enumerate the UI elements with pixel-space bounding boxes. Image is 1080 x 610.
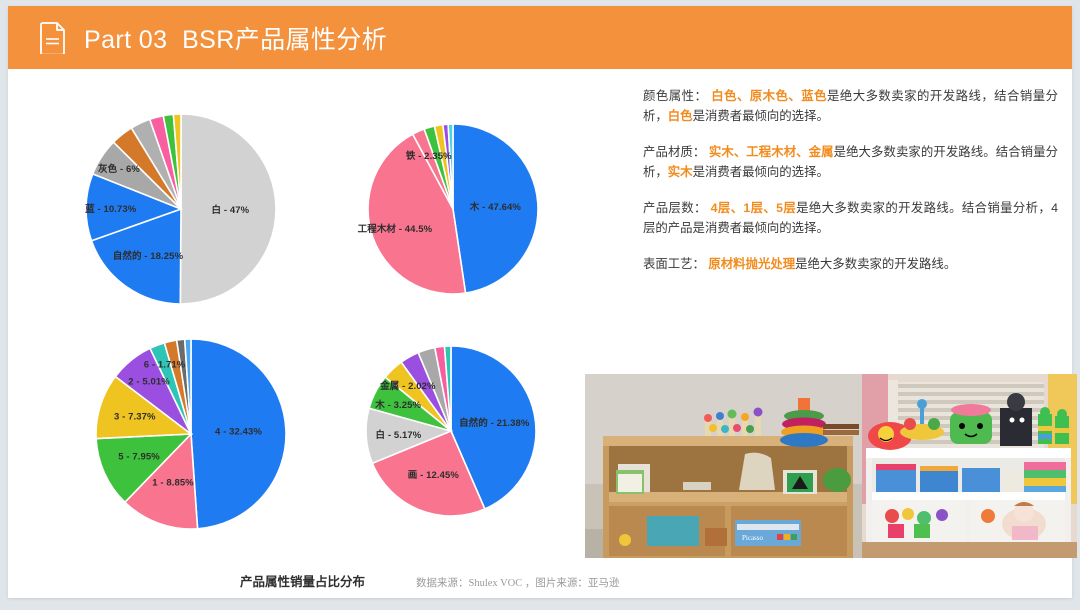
slide-card: Part 03 BSR产品属性分析 颜色属性： 白色、原木色、蓝色是绝大多数卖家… — [8, 6, 1072, 598]
highlight-text: 白色 — [668, 109, 693, 123]
pie-slice-label: 灰色 - 6% — [98, 161, 140, 175]
body-text: 产品材质： — [643, 145, 705, 159]
pie-chart-color-attribute: 白 - 47%自然的 - 18.25%蓝 - 10.73%灰色 - 6% — [86, 114, 276, 304]
pie-chart-material-attribute: 木 - 47.64%工程木材 - 44.5%铁 - 2.35% — [368, 124, 538, 294]
chart-caption: 产品属性销量占比分布 — [240, 571, 365, 590]
highlight-text: 4层、1层、5层 — [707, 201, 796, 215]
pie-slice-label: 金属 - 2.02% — [380, 378, 435, 392]
pie-slice-label: 6 - 1.71% — [144, 359, 186, 370]
page-title: Part 03 BSR产品属性分析 — [84, 20, 387, 56]
document-icon — [39, 22, 67, 54]
pie-slice-label: 工程木材 - 44.5% — [358, 221, 433, 235]
body-text: 产品层数： — [643, 201, 707, 215]
highlight-text: 实木、工程木材、金属 — [705, 145, 833, 159]
pie-slice-label: 4 - 32.43% — [215, 427, 262, 438]
photo-white-toy-shelf — [862, 374, 1077, 558]
pie-slice-label: 自然的 - 21.38% — [459, 415, 529, 429]
body-text: 是消费者最倾向的选择。 — [693, 109, 829, 123]
pie-slice-label: 木 - 47.64% — [470, 199, 521, 213]
pie-slice-label: 2 - 5.01% — [128, 377, 170, 388]
pie-slice-label: 白 - 47% — [212, 202, 250, 216]
slide-header: Part 03 BSR产品属性分析 — [8, 6, 1072, 69]
slide-root: Part 03 BSR产品属性分析 颜色属性： 白色、原木色、蓝色是绝大多数卖家… — [0, 0, 1080, 610]
analysis-paragraph: 表面工艺： 原材料抛光处理是绝大多数卖家的开发路线。 — [643, 254, 1058, 274]
pie-slice-label: 5 - 7.95% — [118, 452, 160, 463]
pie-slice-label: 木 - 3.25% — [375, 397, 421, 411]
body-text: 颜色属性： — [643, 89, 707, 103]
body-text: 表面工艺： — [643, 257, 705, 271]
pie-slice-label: 画 - 12.45% — [408, 467, 459, 481]
analysis-paragraph: 产品材质： 实木、工程木材、金属是绝大多数卖家的开发路线。结合销量分析，实木是消… — [643, 142, 1058, 182]
analysis-paragraph: 产品层数： 4层、1层、5层是绝大多数卖家的开发路线。结合销量分析，4层的产品是… — [643, 198, 1058, 238]
pie-slice-label: 1 - 8.85% — [152, 478, 194, 489]
pie-slice-label: 铁 - 2.35% — [406, 148, 452, 162]
analysis-paragraph: 颜色属性： 白色、原木色、蓝色是绝大多数卖家的开发路线，结合销量分析，白色是消费… — [643, 86, 1058, 126]
photo-gallery: Picasso — [585, 374, 1077, 558]
pie-slice-label: 自然的 - 18.25% — [113, 248, 183, 262]
pie-chart-tier-attribute: 4 - 32.43%1 - 8.85%5 - 7.95%3 - 7.37%2 -… — [96, 339, 286, 529]
highlight-text: 实木 — [668, 165, 693, 179]
pie-slice-label: 蓝 - 10.73% — [85, 201, 136, 215]
photo-wooden-toy-shelf: Picasso — [585, 374, 862, 558]
highlight-text: 原材料抛光处理 — [705, 257, 795, 271]
body-text: 是消费者最倾向的选择。 — [693, 165, 829, 179]
pie-slice-label: 白 - 5.17% — [376, 427, 422, 441]
highlight-text: 白色、原木色、蓝色 — [707, 89, 827, 103]
body-text: 是绝大多数卖家的开发路线。 — [795, 257, 956, 271]
svg-text:Picasso: Picasso — [742, 534, 764, 542]
analysis-text-panel: 颜色属性： 白色、原木色、蓝色是绝大多数卖家的开发路线，结合销量分析，白色是消费… — [643, 86, 1058, 290]
source-caption: 数据来源：Shulex VOC ，图片来源：亚马逊 — [416, 575, 619, 590]
pie-chart-surface-attribute: 自然的 - 21.38%画 - 12.45%白 - 5.17%木 - 3.25%… — [366, 346, 536, 516]
pie-slice-label: 3 - 7.37% — [114, 411, 156, 422]
